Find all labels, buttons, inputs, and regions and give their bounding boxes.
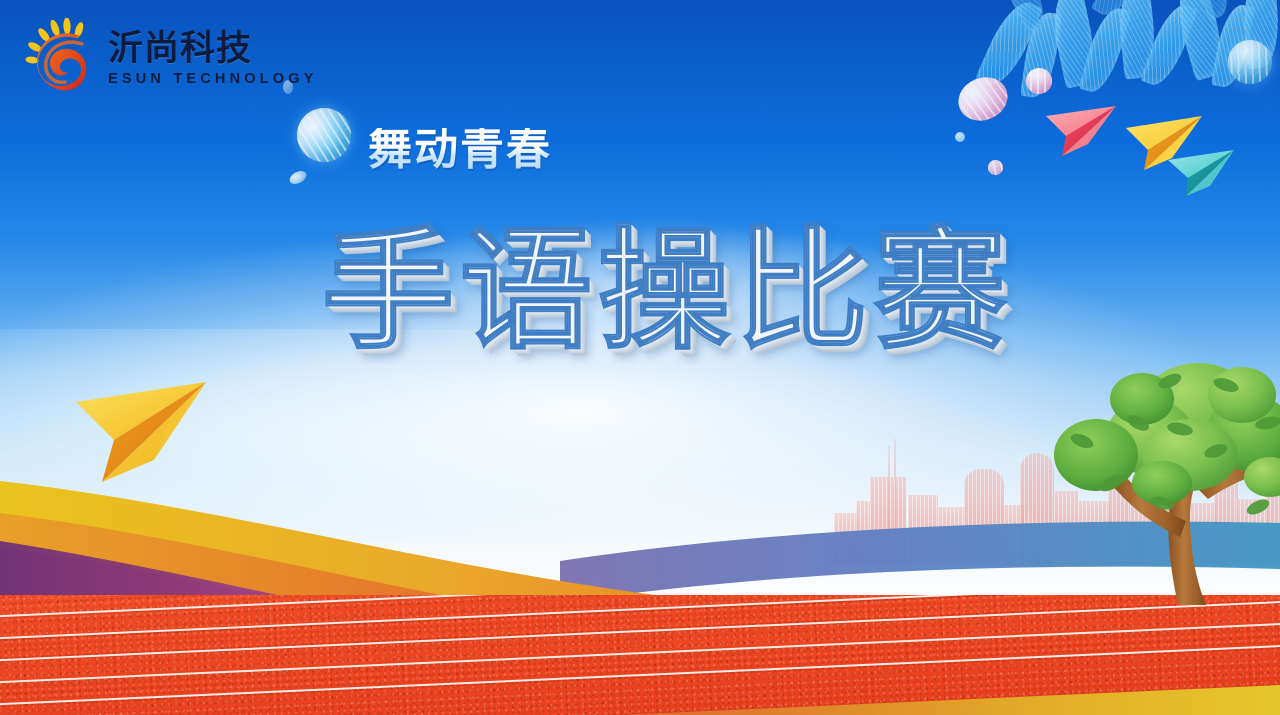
esun-sun-swirl-logo — [24, 18, 102, 96]
poster-title: 手语操比赛 — [322, 222, 1012, 361]
brand-logo[interactable]: 沂尚科技 ESUN TECHNOLOGY — [24, 18, 318, 96]
poster-subtitle: 舞动青春 — [368, 128, 552, 172]
paper-plane-red — [1040, 102, 1120, 162]
bubble-pink-tiny — [988, 160, 1003, 175]
green-tree-icon — [1020, 337, 1280, 607]
poster-canvas: 沂尚科技 ESUN TECHNOLOGY 舞动青春 手语操比赛 — [0, 0, 1280, 715]
bubble-blue-tiny — [955, 132, 965, 142]
brand-name-en: ESUN TECHNOLOGY — [108, 72, 318, 87]
running-track — [0, 595, 1280, 715]
brand-name-cn: 沂尚科技 — [108, 32, 318, 67]
paper-plane-teal — [1164, 146, 1240, 202]
paper-plane-big-yellow — [58, 378, 218, 496]
